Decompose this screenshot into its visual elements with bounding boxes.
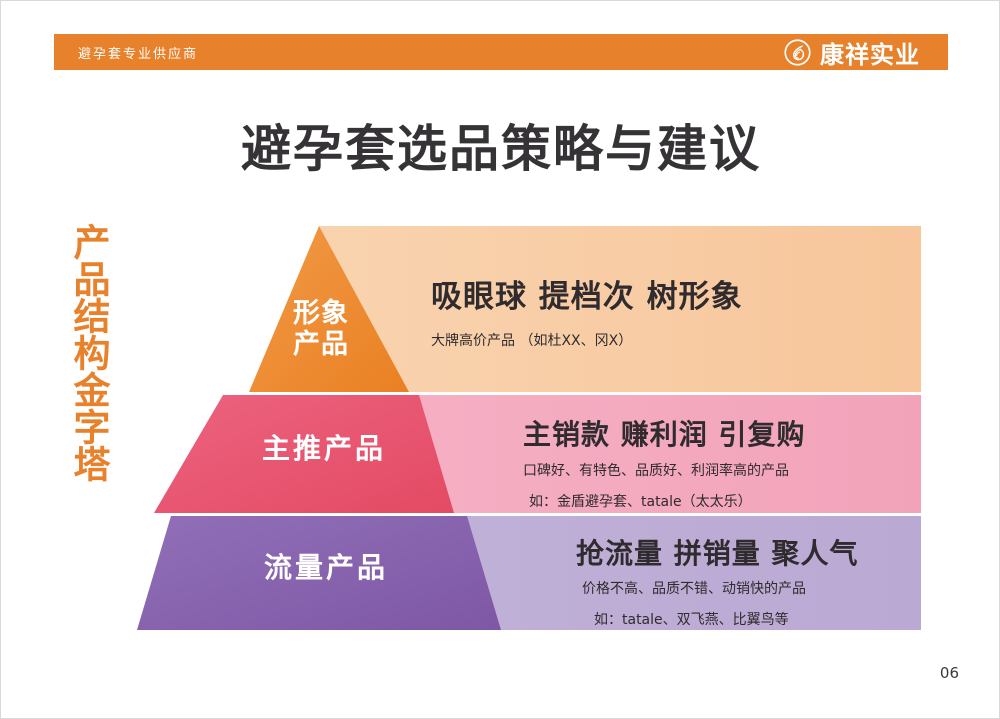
tier-body-main-push-products: 主销款 赚利润 引复购 口碑好、有特色、品质好、利润率高的产品 如：金盾避孕套、…	[523, 413, 923, 511]
tier-subline-main-push-products-1: 口碑好、有特色、品质好、利润率高的产品	[523, 460, 923, 480]
tier-headline-traffic-products: 抢流量 拼销量 聚人气	[576, 532, 956, 572]
tier-body-image-products: 吸眼球 提档次 树形象 大牌高价产品 （如杜XX、冈X）	[431, 271, 911, 350]
page-title: 避孕套选品策略与建议	[1, 109, 1000, 181]
tier-label-image-products: 形象 产品	[273, 298, 369, 360]
slide: 避孕套专业供应商 康祥实业 避孕套选品策略与建议 产品结构金字塔	[0, 0, 1000, 719]
tier-headline-image-products: 吸眼球 提档次 树形象	[431, 271, 911, 316]
tier-label-traffic-products: 流量产品	[241, 552, 411, 584]
tier-body-traffic-products: 抢流量 拼销量 聚人气 价格不高、品质不错、动销快的产品 如：tatale、双飞…	[576, 532, 956, 629]
tier-headline-main-push-products: 主销款 赚利润 引复购	[523, 413, 923, 453]
flame-leaf-circle-logo-icon	[784, 39, 811, 66]
tier-subline-image-products-1: 大牌高价产品 （如杜XX、冈X）	[431, 330, 911, 350]
tier-label-main-push-products: 主推产品	[239, 433, 409, 465]
brand-name: 康祥实业	[820, 35, 920, 70]
side-label-product-structure-pyramid: 产品结构金字塔	[63, 223, 109, 523]
page-number: 06	[940, 664, 959, 682]
tier-subline-main-push-products-2: 如：金盾避孕套、tatale（太太乐）	[529, 491, 923, 511]
brand-block: 康祥实业	[784, 35, 920, 70]
tier-subline-traffic-products-2: 如：tatale、双飞燕、比翼鸟等	[594, 609, 956, 629]
header-bar: 避孕套专业供应商 康祥实业	[54, 34, 948, 70]
tier-subline-traffic-products-1: 价格不高、品质不错、动销快的产品	[582, 578, 956, 598]
header-tagline: 避孕套专业供应商	[78, 43, 198, 62]
